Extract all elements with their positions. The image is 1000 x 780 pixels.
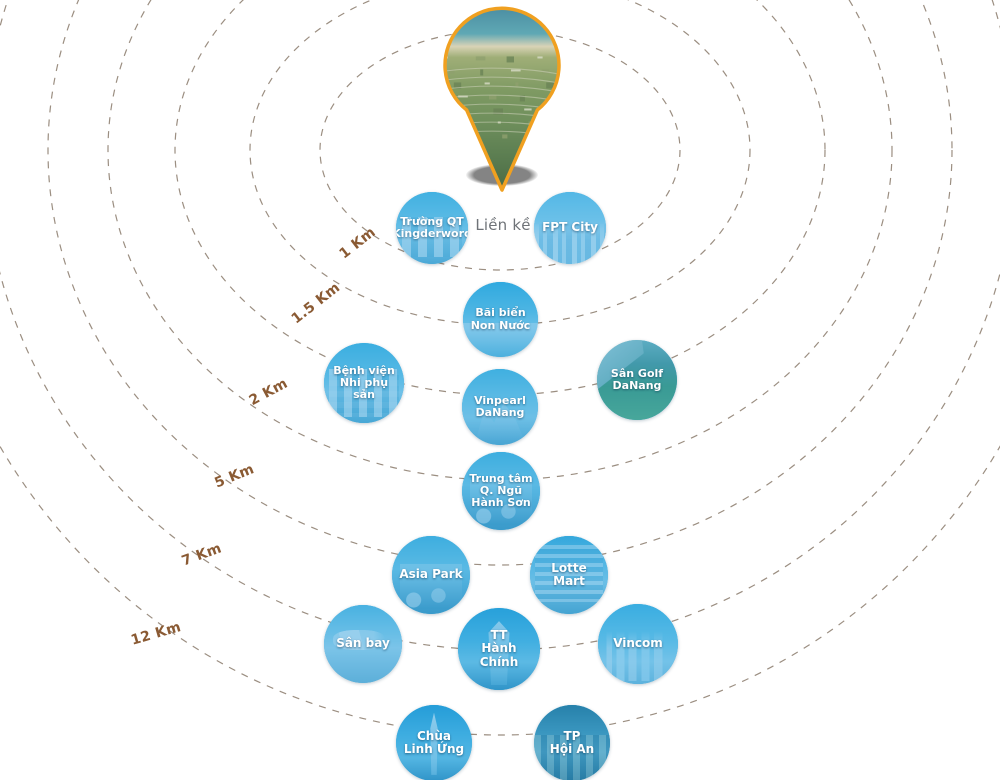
- poi-caption: Vinpearl DaNang: [470, 395, 530, 420]
- poi-bai-bien-non-nuoc[interactable]: Bãi biển Non Nước: [463, 282, 538, 357]
- poi-asia-park[interactable]: Asia Park: [392, 536, 470, 614]
- poi-caption: Asia Park: [395, 568, 466, 581]
- poi-caption: Bệnh viện Nhi phụ sản: [324, 365, 404, 402]
- poi-tp-hoi-an[interactable]: TP Hội An: [534, 705, 610, 780]
- poi-caption: Sân Golf DaNang: [607, 368, 667, 393]
- poi-caption: Trung tâm Q. Ngũ Hành Sơn: [465, 473, 536, 510]
- poi-caption: Lotte Mart: [530, 562, 608, 589]
- poi-caption: Trường QT Kingderword: [396, 216, 468, 241]
- poi-caption: Chùa Linh Ứng: [400, 730, 468, 757]
- poi-vincom[interactable]: Vincom: [598, 604, 678, 684]
- poi-san-golf-danang[interactable]: Sân Golf DaNang: [597, 340, 677, 420]
- poi-truong-qt-kingderword[interactable]: Trường QT Kingderword: [396, 192, 468, 264]
- poi-chua-linh-ung[interactable]: Chùa Linh Ứng: [396, 705, 472, 780]
- poi-caption: Sân bay: [332, 637, 394, 650]
- poi-san-bay[interactable]: Sân bay: [324, 605, 402, 683]
- project-location-pin[interactable]: [438, 2, 566, 202]
- poi-caption: TT Hành Chính: [458, 629, 540, 669]
- connectivity-map: 1 Km1.5 Km2 Km5 Km7 Km12 Km Liền kề Trườ…: [0, 0, 1000, 780]
- poi-caption: Vincom: [609, 637, 667, 650]
- poi-fpt-city[interactable]: FPT City: [534, 192, 606, 264]
- poi-trung-tam-q-ngu-hanh-son[interactable]: Trung tâm Q. Ngũ Hành Sơn: [462, 452, 540, 530]
- pin-graphic: [438, 2, 566, 202]
- poi-benh-vien-nhi-phu-san[interactable]: Bệnh viện Nhi phụ sản: [324, 343, 404, 423]
- lienke-label: Liền kề: [475, 216, 530, 234]
- poi-lotte-mart[interactable]: Lotte Mart: [530, 536, 608, 614]
- poi-vinpearl-danang[interactable]: Vinpearl DaNang: [462, 369, 538, 445]
- poi-caption: Bãi biển Non Nước: [467, 307, 535, 332]
- poi-caption: TP Hội An: [546, 730, 598, 757]
- poi-tt-hanh-chinh[interactable]: TT Hành Chính: [458, 608, 540, 690]
- poi-caption: FPT City: [538, 221, 602, 234]
